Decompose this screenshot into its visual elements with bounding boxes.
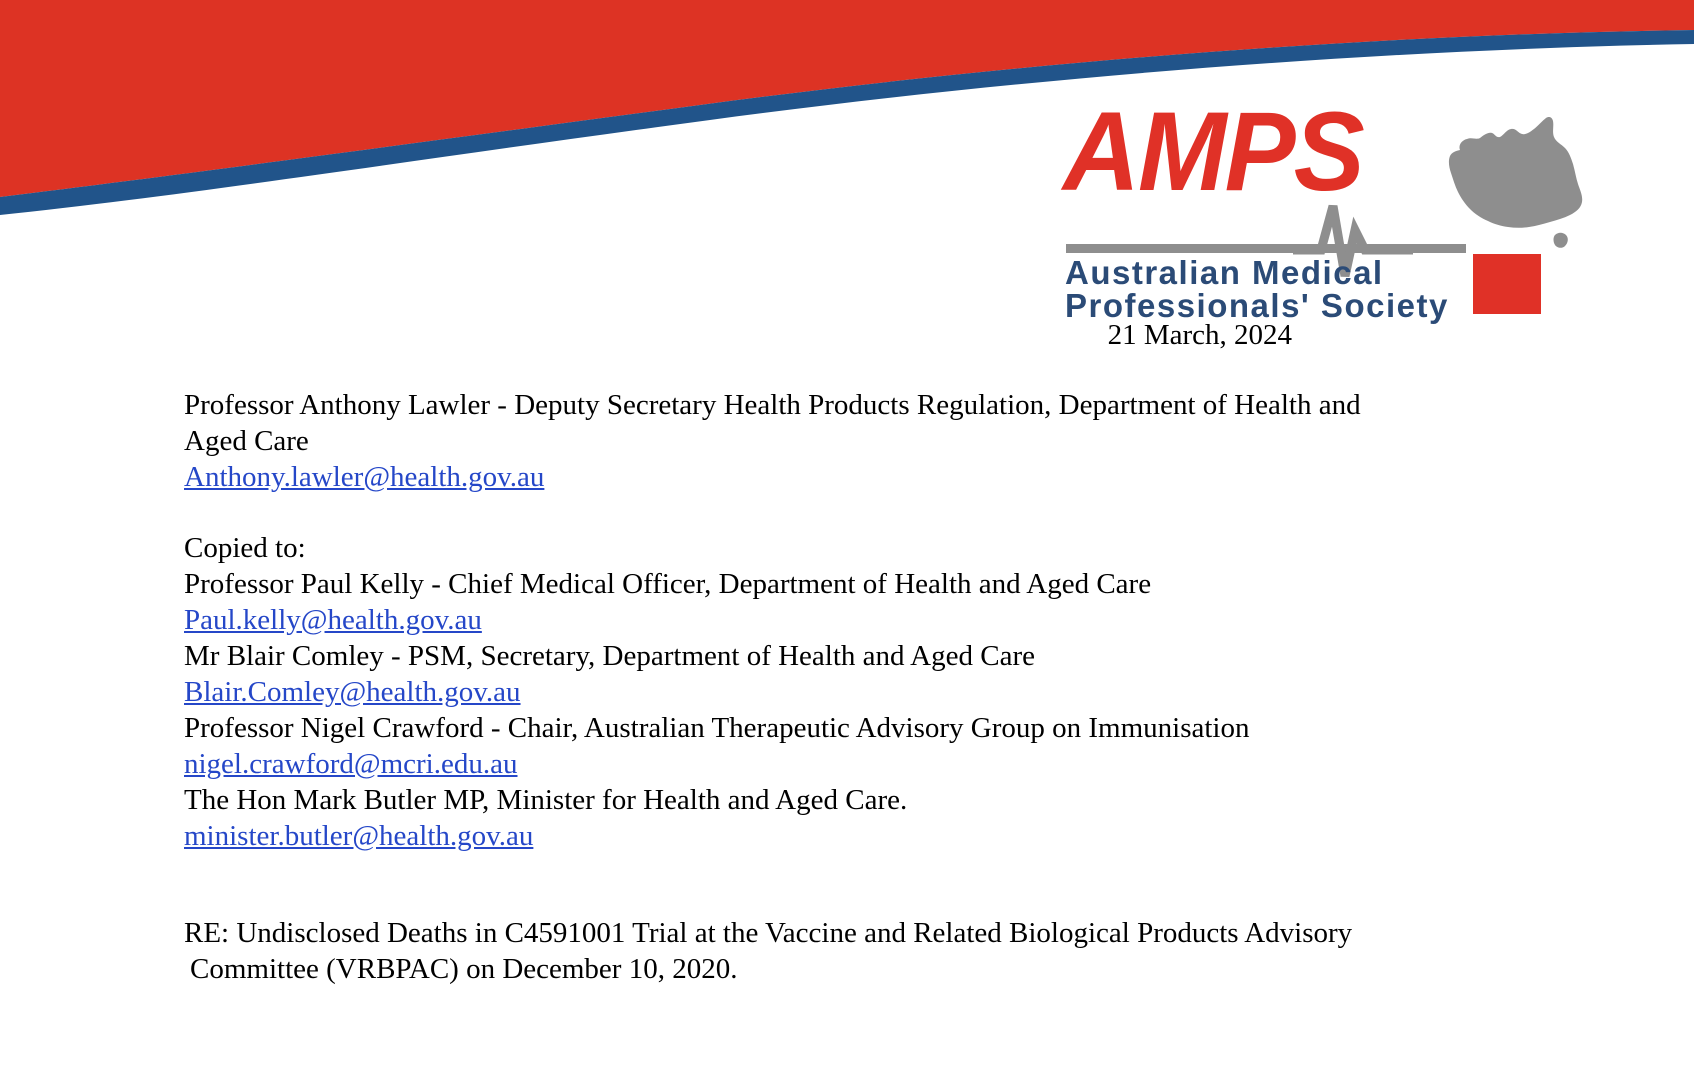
logo-red-square: [1473, 254, 1541, 314]
recipient-name: Mr Blair Comley - PSM, Secretary, Depart…: [184, 638, 1424, 674]
subject-line1: RE: Undisclosed Deaths in C4591001 Trial…: [184, 915, 1374, 951]
recipient-name: The Hon Mark Butler MP, Minister for Hea…: [184, 782, 1424, 818]
recipient-email-link[interactable]: minister.butler@health.gov.au: [184, 820, 533, 852]
addressee-line2: Aged Care: [184, 423, 1379, 459]
copied-to-label: Copied to:: [184, 530, 1424, 566]
addressee-email-link[interactable]: Anthony.lawler@health.gov.au: [184, 461, 544, 493]
addressee-block: Professor Anthony Lawler - Deputy Secret…: [184, 387, 1379, 495]
recipient-name: Professor Nigel Crawford - Chair, Austra…: [184, 710, 1424, 746]
amps-wordmark: AMPS: [1063, 96, 1363, 208]
addressee-line1: Professor Anthony Lawler - Deputy Secret…: [184, 387, 1379, 423]
recipient-email-link[interactable]: Blair.Comley@health.gov.au: [184, 676, 521, 708]
recipient-email-link[interactable]: nigel.crawford@mcri.edu.au: [184, 748, 518, 780]
recipient-name: Professor Paul Kelly - Chief Medical Off…: [184, 566, 1424, 602]
amps-logo: AMPS Australian Medical Professionals' S…: [1063, 96, 1683, 316]
subject-line2: Committee (VRBPAC) on December 10, 2020.: [184, 951, 1374, 987]
copied-to-block: Copied to: Professor Paul Kelly - Chief …: [184, 530, 1424, 854]
australia-map-icon: [1418, 104, 1598, 254]
recipient-email-link[interactable]: Paul.kelly@health.gov.au: [184, 604, 482, 636]
letter-date: 21 March, 2024: [0, 318, 1292, 352]
subject-line-block: RE: Undisclosed Deaths in C4591001 Trial…: [184, 915, 1374, 987]
logo-subtitle-line1: Australian Medical: [1065, 256, 1384, 289]
